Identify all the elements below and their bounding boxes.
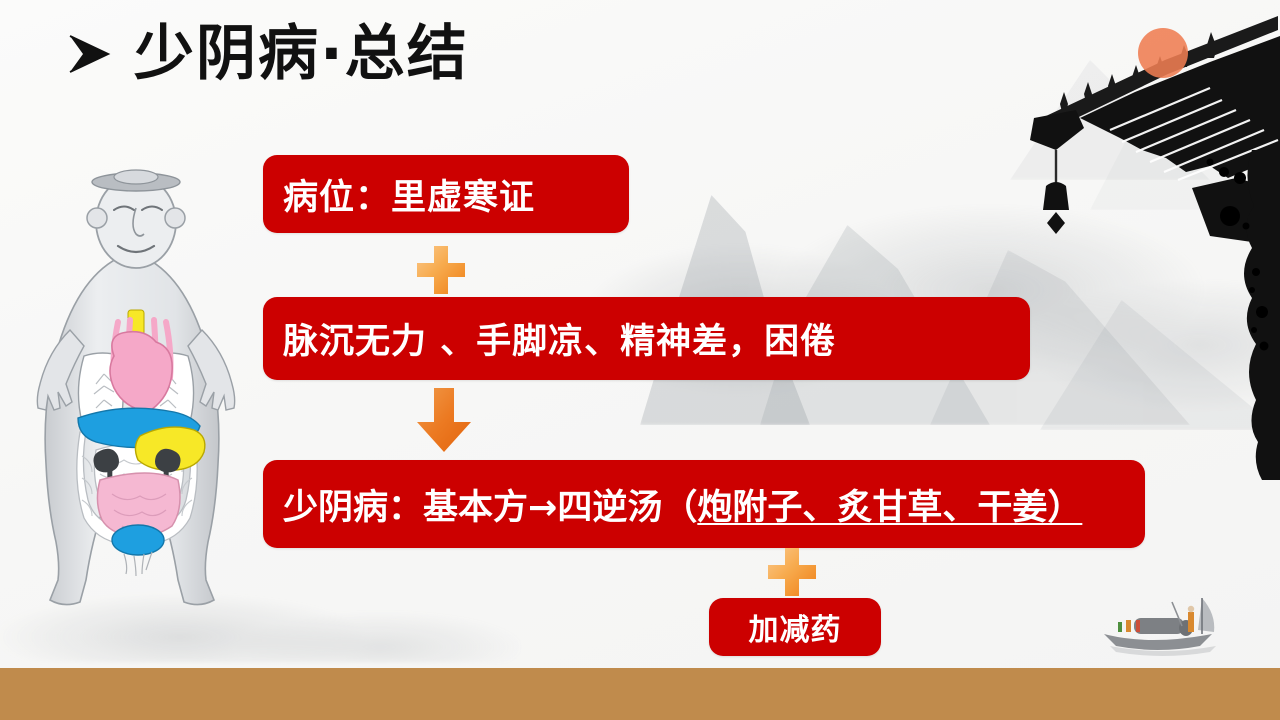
mountain-peak bbox=[1040, 300, 1280, 430]
plus-icon bbox=[765, 545, 819, 599]
temple-eave-icon bbox=[960, 0, 1280, 250]
mountain-peak bbox=[1090, 100, 1280, 210]
flow-box-prescription-label: 少阴病：基本方→四逆汤（炮附子、炙甘草、干姜） bbox=[263, 479, 1082, 530]
ink-splatter bbox=[1190, 150, 1280, 480]
arrow-down-icon bbox=[413, 386, 475, 454]
flow-box-prescription[interactable]: 少阴病：基本方→四逆汤（炮附子、炙甘草、干姜） bbox=[263, 460, 1145, 548]
anatomy-cartoon-figure bbox=[18, 160, 268, 610]
mountain-peak bbox=[1010, 60, 1210, 180]
page-title-text: 少阴病·总结 bbox=[134, 24, 469, 84]
flow-box-symptoms[interactable]: 脉沉无力 、手脚凉、精神差，困倦 bbox=[263, 297, 1030, 380]
page-title: 少阴病·总结 bbox=[66, 24, 469, 84]
triangle-arrow-bullet-icon bbox=[66, 28, 112, 80]
sailing-boat-icon bbox=[1090, 592, 1240, 658]
flow-box-condition[interactable]: 病位：里虚寒证 bbox=[263, 155, 629, 233]
flow-box-symptoms-label: 脉沉无力 、手脚凉、精神差，困倦 bbox=[263, 313, 836, 364]
flow-box-adjust-label: 加减药 bbox=[749, 605, 842, 649]
footer-bar bbox=[0, 668, 1280, 720]
prescription-herbs: 炮附子、炙甘草、干姜） bbox=[697, 488, 1082, 528]
flow-box-adjust[interactable]: 加减药 bbox=[709, 598, 881, 656]
flow-box-condition-label: 病位：里虚寒证 bbox=[263, 169, 535, 220]
sun-disc-icon bbox=[1138, 28, 1188, 78]
plus-icon bbox=[414, 243, 468, 297]
prescription-prefix: 少阴病：基本方→四逆汤（ bbox=[283, 488, 697, 528]
slide-canvas: 少阴病·总结 bbox=[0, 0, 1280, 720]
